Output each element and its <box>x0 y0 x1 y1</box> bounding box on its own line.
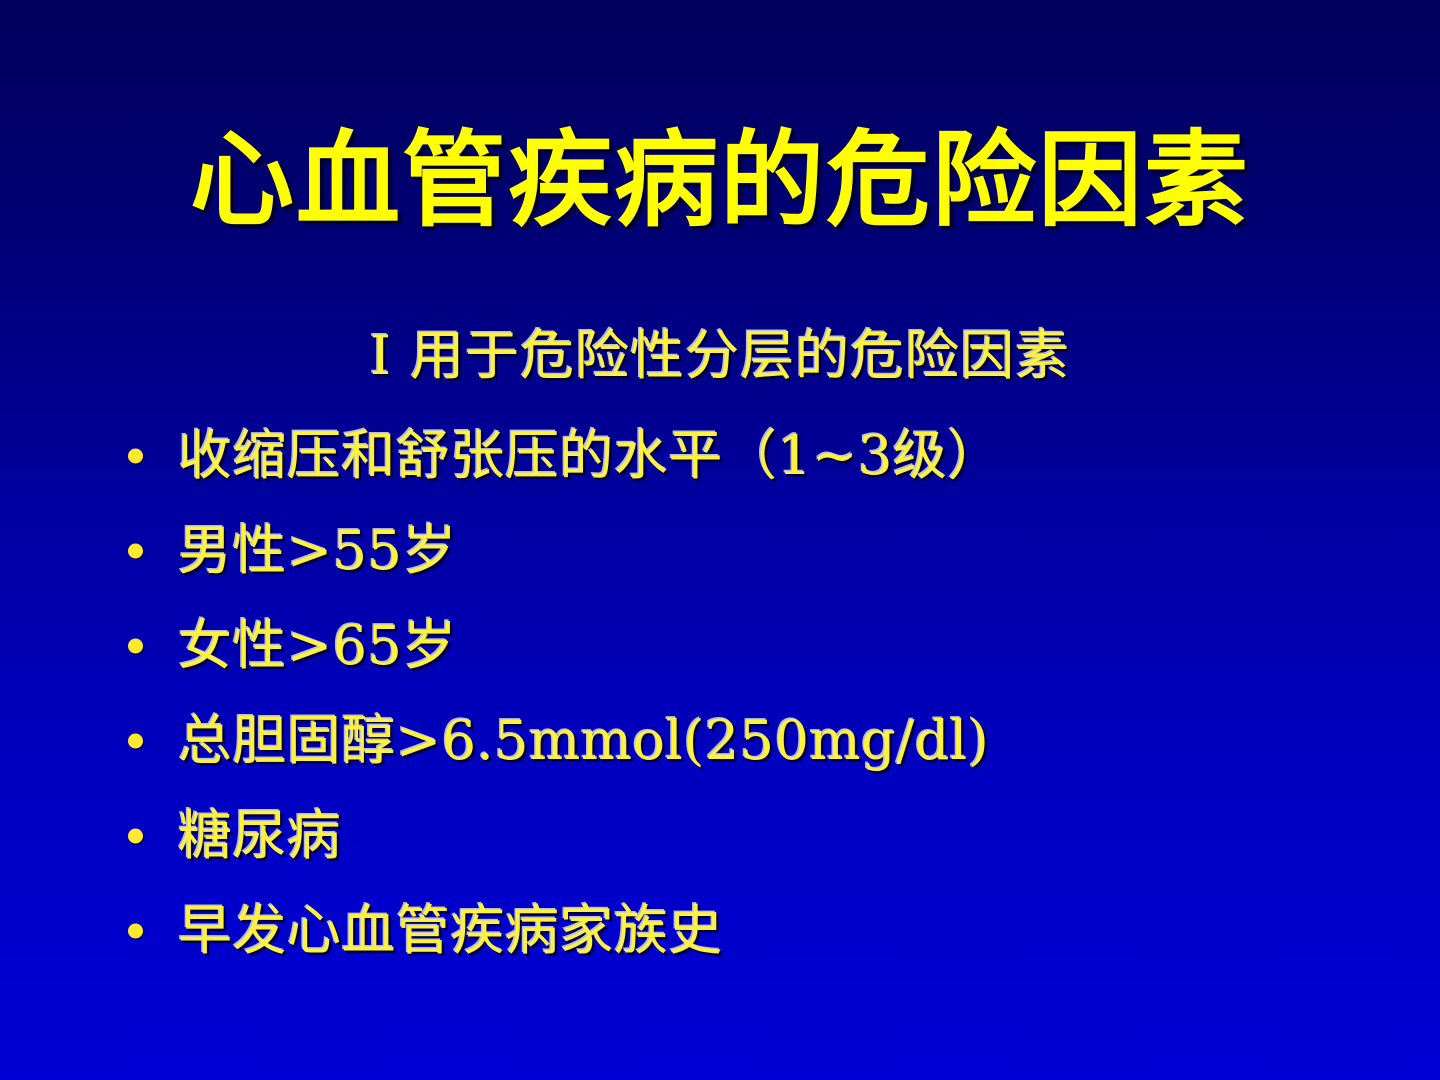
bullet-dot-icon <box>128 448 143 463</box>
list-item: 总胆固醇>6.5mmol(250mg/dl) <box>0 693 1440 788</box>
list-item-label: 女性>65岁 <box>178 615 457 677</box>
bullet-dot-icon <box>128 733 143 748</box>
slide-title: 心血管疾病的危险因素 <box>0 124 1440 236</box>
list-item: 男性>55岁 <box>0 503 1440 598</box>
list-item: 女性>65岁 <box>0 598 1440 693</box>
bullet-dot-icon <box>128 543 143 558</box>
risk-factor-list: 收缩压和舒张压的水平（1~3级） 男性>55岁 女性>65岁 总胆固醇>6.5m… <box>0 408 1440 978</box>
bullet-dot-icon <box>128 923 143 938</box>
list-item-label: 总胆固醇>6.5mmol(250mg/dl) <box>178 710 989 772</box>
list-item-label: 糖尿病 <box>178 805 342 867</box>
presentation-slide: 心血管疾病的危险因素 I 用于危险性分层的危险因素 收缩压和舒张压的水平（1~3… <box>0 0 1440 1080</box>
slide-subtitle: I 用于危险性分层的危险因素 <box>0 325 1440 387</box>
list-item-label: 早发心血管疾病家族史 <box>178 900 723 962</box>
list-item-label: 收缩压和舒张压的水平（1~3级） <box>178 425 1002 487</box>
list-item: 糖尿病 <box>0 788 1440 883</box>
bullet-dot-icon <box>128 828 143 843</box>
list-item: 收缩压和舒张压的水平（1~3级） <box>0 408 1440 503</box>
bullet-dot-icon <box>128 638 143 653</box>
list-item: 早发心血管疾病家族史 <box>0 883 1440 978</box>
list-item-label: 男性>55岁 <box>178 520 457 582</box>
